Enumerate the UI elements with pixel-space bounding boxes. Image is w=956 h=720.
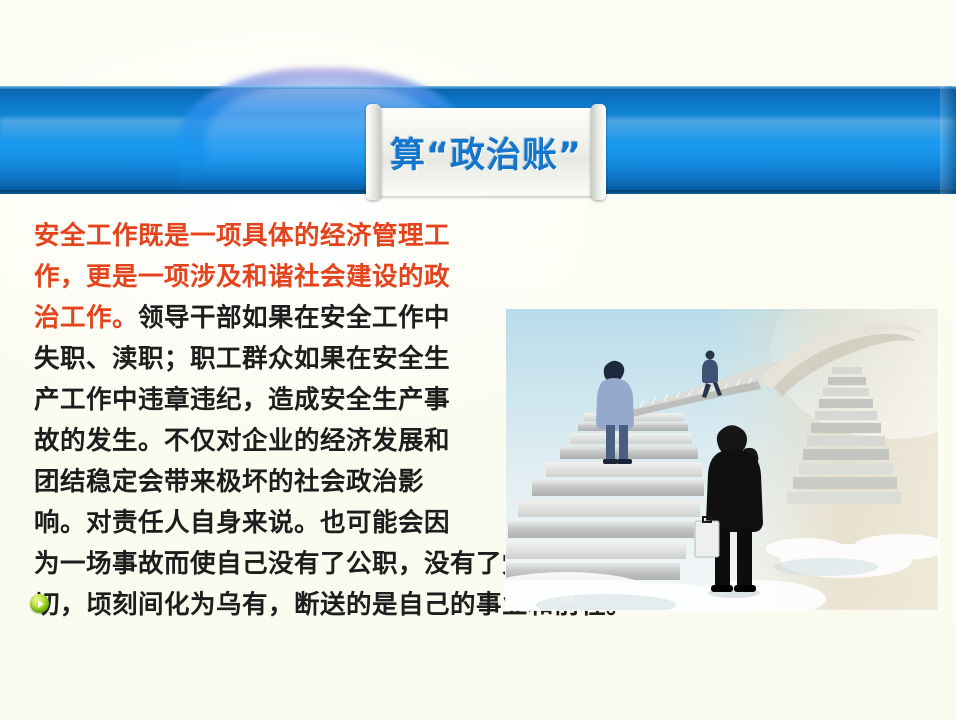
- stairway-illustration: [506, 309, 938, 610]
- title-plaque: 算“政治账”: [366, 108, 606, 196]
- presentation-slide: 算“政治账” 安全工作既是一项具体的经济管理工作，更是一项涉及和谐社会建设的政治…: [0, 0, 956, 720]
- stairway-photo: 视觉中国: [506, 309, 938, 610]
- banner-top-edge: [0, 86, 956, 89]
- photo-watermark: 视觉中国: [516, 585, 576, 604]
- page-title: 算“政治账”: [366, 108, 606, 196]
- banner-right-roll: [940, 86, 956, 194]
- green-play-bullet-icon: [30, 594, 49, 613]
